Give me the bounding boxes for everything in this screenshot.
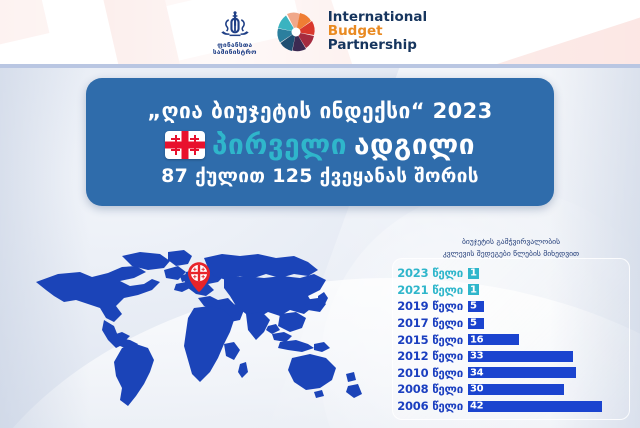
- chart-value-label: 34: [470, 367, 483, 378]
- chart-row: 2019 წელი5: [393, 298, 629, 315]
- chart-bar: 33: [468, 351, 573, 362]
- title-card: „ღია ბიუჯეტის ინდექსი“ 2023 პირველი ადგი…: [86, 78, 554, 206]
- chart-category-label: 2006 წელი: [393, 399, 468, 413]
- ibp-pinwheel-icon: [271, 7, 321, 57]
- chart-category-label: 2019 წელი: [393, 299, 468, 313]
- chart-category-label: 2012 წელი: [393, 349, 468, 363]
- title-word-place: ადგილი: [354, 128, 475, 161]
- chart-row: 2023 წელი1: [393, 265, 629, 282]
- ministry-of-finance-logo: ფინანსთა სამინისტრო: [213, 8, 257, 56]
- results-by-year-chart: 2023 წელი12021 წელი12019 წელი52017 წელი5…: [392, 258, 630, 420]
- flag-mini-cross-tl: [171, 135, 180, 144]
- chart-bar: 5: [468, 318, 484, 329]
- chart-row: 2012 წელი33: [393, 348, 629, 365]
- international-budget-partnership-logo: International Budget Partnership: [271, 7, 427, 57]
- flag-mini-cross-bl: [171, 146, 180, 155]
- flag-mini-cross-br: [190, 146, 199, 155]
- chart-bar: 42: [468, 401, 602, 412]
- chart-category-label: 2008 წელი: [393, 382, 468, 396]
- georgia-location-pin[interactable]: [186, 261, 212, 293]
- chart-value-label: 16: [470, 334, 483, 345]
- georgia-coat-of-arms-icon: [215, 8, 255, 40]
- chart-value-label: 1: [470, 268, 477, 279]
- infographic-canvas: ფინანსთა სამინისტრო: [0, 0, 640, 428]
- ministry-of-finance-label: ფინანსთა სამინისტრო: [213, 42, 257, 56]
- chart-rows: 2023 წელი12021 წელი12019 წელი52017 წელი5…: [393, 265, 629, 414]
- chart-category-label: 2023 წელი: [393, 266, 468, 280]
- ibp-wordmark: International Budget Partnership: [328, 11, 427, 53]
- title-line-1: „ღია ბიუჯეტის ინდექსი“ 2023: [147, 99, 492, 123]
- flag-mini-cross-tr: [190, 135, 199, 144]
- title-line-2: პირველი ადგილი: [165, 128, 475, 161]
- logo-row: ფინანსთა სამინისტრო: [0, 0, 640, 64]
- georgia-flag-icon: [165, 131, 205, 159]
- chart-title: ბიუჯეტის გამჭვირვალობის: [392, 236, 630, 248]
- ministry-line-2: სამინისტრო: [213, 49, 257, 56]
- chart-row: 2017 წელი5: [393, 315, 629, 332]
- title-line-3: 87 ქულით 125 ქვეყანას შორის: [161, 165, 479, 187]
- chart-bar: 16: [468, 334, 519, 345]
- chart-category-label: 2021 წელი: [393, 283, 468, 297]
- chart-category-label: 2015 წელი: [393, 333, 468, 347]
- header-band: ფინანსთა სამინისტრო: [0, 0, 640, 68]
- chart-value-label: 33: [470, 351, 483, 362]
- chart-bar: 5: [468, 301, 484, 312]
- chart-row: 2015 წელი16: [393, 331, 629, 348]
- chart-caption: ბიუჯეტის გამჭვირვალობის კვლევის შედეგები…: [392, 236, 630, 260]
- chart-bar: 1: [468, 284, 479, 295]
- chart-value-label: 5: [470, 318, 477, 329]
- title-word-first: პირველი: [212, 128, 347, 161]
- chart-row: 2021 წელი1: [393, 282, 629, 299]
- chart-row: 2008 წელი30: [393, 381, 629, 398]
- chart-value-label: 42: [470, 401, 483, 412]
- ibp-line-3: Partnership: [328, 39, 427, 53]
- chart-row: 2006 წელი42: [393, 398, 629, 415]
- chart-value-label: 1: [470, 284, 477, 295]
- chart-bar: 1: [468, 268, 479, 279]
- chart-category-label: 2017 წელი: [393, 316, 468, 330]
- chart-category-label: 2010 წელი: [393, 366, 468, 380]
- chart-bar: 34: [468, 367, 576, 378]
- chart-bar: 30: [468, 384, 564, 395]
- chart-value-label: 5: [470, 301, 477, 312]
- chart-row: 2010 წელი34: [393, 365, 629, 382]
- chart-value-label: 30: [470, 384, 483, 395]
